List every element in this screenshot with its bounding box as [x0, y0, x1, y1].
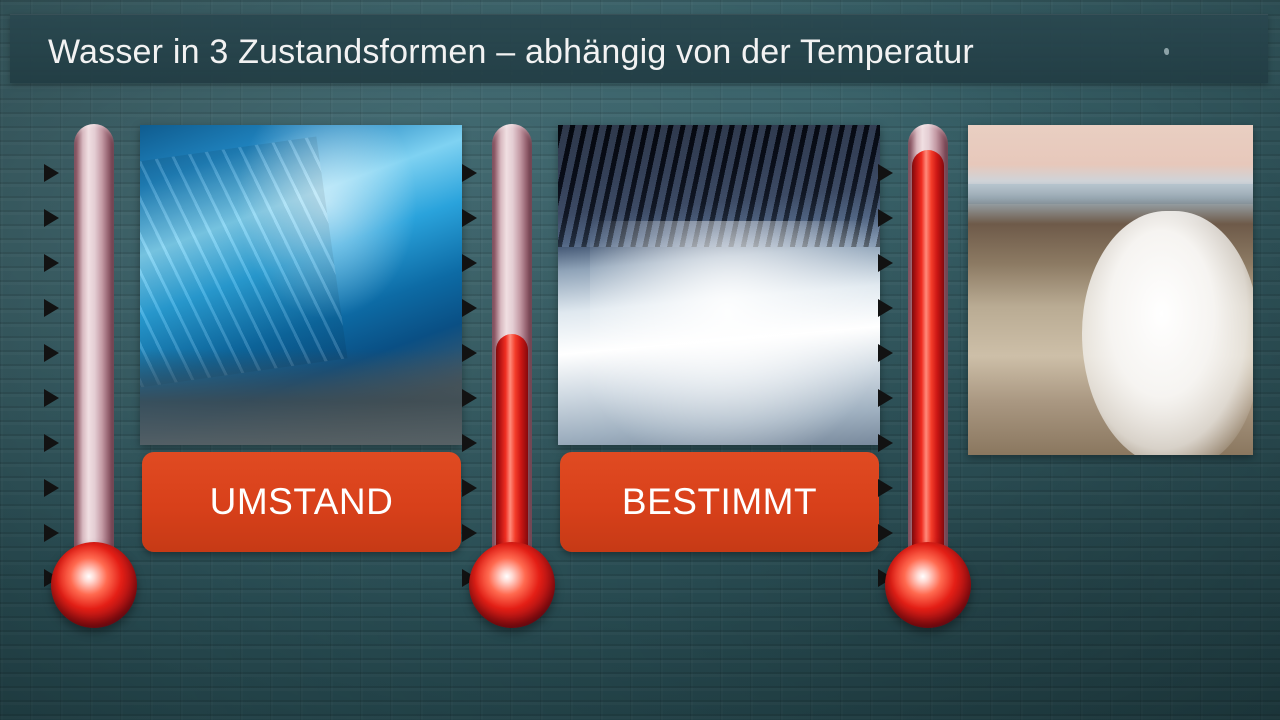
scale-tick [462, 254, 477, 272]
scale-tick [878, 209, 893, 227]
label-chip-umstand-text: UMSTAND [210, 481, 394, 523]
scale-tick [462, 344, 477, 362]
scale-tick [462, 434, 477, 452]
thermometer-tube [74, 124, 114, 564]
label-chip-bestimmt-text: BESTIMMT [622, 481, 817, 523]
scale-tick [44, 254, 59, 272]
scale-tick [44, 479, 59, 497]
scale-tick [462, 524, 477, 542]
slide-canvas: Wasser in 3 Zustandsformen – abhängig vo… [0, 0, 1280, 720]
page-title: Wasser in 3 Zustandsformen – abhängig vo… [48, 33, 974, 72]
scale-tick [878, 299, 893, 317]
scale-tick [878, 524, 893, 542]
thermometer-scale-ticks [462, 150, 488, 570]
scale-tick [44, 164, 59, 182]
scale-tick [462, 299, 477, 317]
scale-tick [878, 389, 893, 407]
label-chip-bestimmt[interactable]: BESTIMMT [560, 452, 879, 552]
thermometer-bulb [51, 542, 137, 628]
scale-tick [878, 479, 893, 497]
scale-tick [44, 389, 59, 407]
scale-tick [44, 299, 59, 317]
thermometer-water [462, 124, 558, 684]
thermometer-mercury [912, 150, 944, 582]
ice-cave-photo [140, 125, 462, 445]
scale-tick [878, 164, 893, 182]
scale-tick [44, 434, 59, 452]
thermometer-ice [44, 124, 140, 684]
scale-tick [878, 434, 893, 452]
thermometer-steam [878, 124, 974, 684]
scale-tick [878, 344, 893, 362]
geyser-steam-photo [968, 125, 1253, 455]
title-bar: Wasser in 3 Zustandsformen – abhängig vo… [10, 14, 1268, 83]
scale-tick [44, 344, 59, 362]
decorative-speck [1164, 48, 1169, 55]
thermometer-bulb [469, 542, 555, 628]
scale-tick [462, 389, 477, 407]
thermometer-bulb [885, 542, 971, 628]
waterfall-photo [558, 125, 880, 445]
thermometer-scale-ticks [878, 150, 904, 570]
label-chip-umstand[interactable]: UMSTAND [142, 452, 461, 552]
scale-tick [462, 164, 477, 182]
scale-tick [878, 254, 893, 272]
scale-tick [462, 209, 477, 227]
scale-tick [44, 524, 59, 542]
scale-tick [462, 479, 477, 497]
scale-tick [44, 209, 59, 227]
thermometer-scale-ticks [44, 150, 70, 570]
